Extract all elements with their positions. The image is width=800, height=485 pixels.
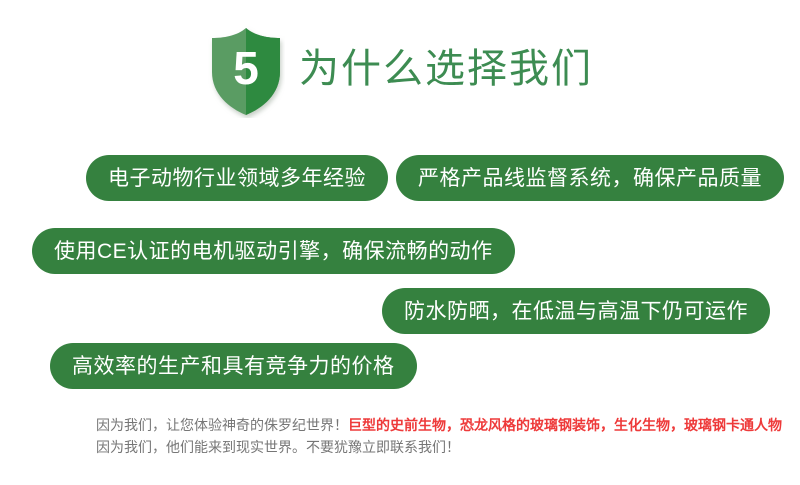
shield-badge: 5	[207, 26, 285, 118]
page-header: 5 为什么选择我们	[0, 22, 800, 122]
feature-pill-4-label: 防水防晒，在低温与高温下仍可运作	[404, 301, 748, 322]
feature-pill-4: 防水防晒，在低温与高温下仍可运作	[382, 288, 770, 334]
feature-pill-1-label: 电子动物行业领域多年经验	[108, 168, 366, 189]
feature-pill-3-label: 使用CE认证的电机驱动引擎，确保流畅的动作	[54, 241, 493, 262]
badge-number: 5	[207, 26, 285, 118]
why-choose-us-banner: 5 为什么选择我们 电子动物行业领域多年经验 严格产品线监督系统，确保产品质量 …	[0, 0, 800, 485]
footer-line-1: 因为我们，让您体验神奇的侏罗纪世界！巨型的史前生物，恐龙风格的玻璃钢装饰，生化生…	[96, 414, 756, 436]
footer-line-1-highlight: 巨型的史前生物，恐龙风格的玻璃钢装饰，生化生物，玻璃钢卡通人物	[348, 417, 782, 433]
footer-line-2: 因为我们，他们能来到现实世界。不要犹豫立即联系我们！	[96, 436, 756, 458]
feature-pill-2-label: 严格产品线监督系统，确保产品质量	[418, 168, 762, 189]
feature-pill-5: 高效率的生产和具有竞争力的价格	[50, 343, 417, 389]
feature-pill-1: 电子动物行业领域多年经验	[86, 155, 388, 201]
feature-pill-5-label: 高效率的生产和具有竞争力的价格	[72, 356, 395, 377]
page-title: 为什么选择我们	[299, 49, 593, 95]
footer-paragraph: 因为我们，让您体验神奇的侏罗纪世界！巨型的史前生物，恐龙风格的玻璃钢装饰，生化生…	[96, 414, 756, 458]
feature-pill-2: 严格产品线监督系统，确保产品质量	[396, 155, 784, 201]
feature-pill-3: 使用CE认证的电机驱动引擎，确保流畅的动作	[32, 228, 515, 274]
footer-line-1-prefix: 因为我们，让您体验神奇的侏罗纪世界！	[96, 417, 348, 433]
